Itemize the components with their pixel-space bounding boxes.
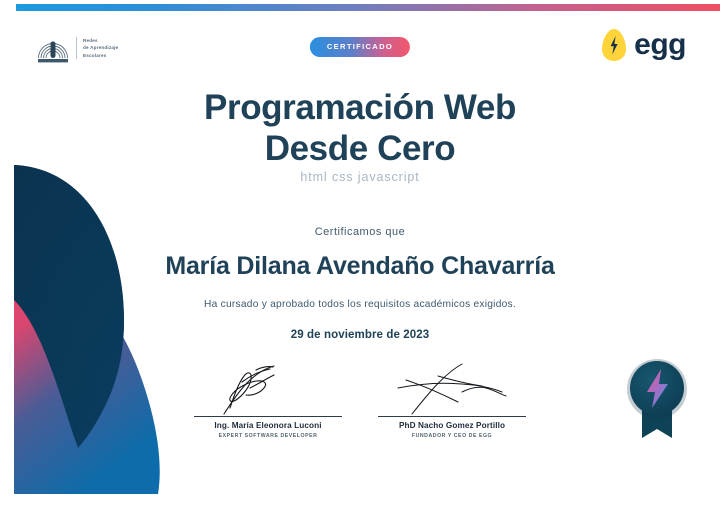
signature-block: PhD Nacho Gomez Portillo FUNDADOR Y CEO … [378, 362, 526, 439]
certificate-body: Programación Web Desde Cero html css jav… [0, 0, 720, 506]
medal-lightning-seal-icon [622, 354, 692, 440]
signature-rule [378, 416, 526, 417]
signatory-name: Ing. María Eleonora Luconi [194, 421, 342, 430]
signatory-role: EXPERT SOFTWARE DEVELOPER [194, 433, 342, 439]
signature-rule [194, 416, 342, 417]
signatory-name: PhD Nacho Gomez Portillo [378, 421, 526, 430]
signature-area: Ing. María Eleonora Luconi EXPERT SOFTWA… [0, 362, 720, 439]
handwritten-signature-icon [194, 362, 342, 416]
course-title: Programación Web Desde Cero [0, 88, 720, 170]
course-title-line-1: Programación Web [0, 88, 720, 129]
course-subtitle: html css javascript [0, 170, 720, 184]
certificate-page: Redes de Aprendizaje Escolares CERTIFICA… [0, 0, 720, 506]
certify-line: Certificamos que [0, 226, 720, 238]
signature-block: Ing. María Eleonora Luconi EXPERT SOFTWA… [194, 362, 342, 439]
handwritten-signature-icon [378, 362, 526, 416]
completion-statement: Ha cursado y aprobado todos los requisit… [0, 299, 720, 310]
signatory-role: FUNDADOR Y CEO DE EGG [378, 433, 526, 439]
recipient-name: María Dilana Avendaño Chavarría [0, 252, 720, 281]
issue-date: 29 de noviembre de 2023 [0, 329, 720, 341]
course-title-line-2: Desde Cero [0, 129, 720, 170]
